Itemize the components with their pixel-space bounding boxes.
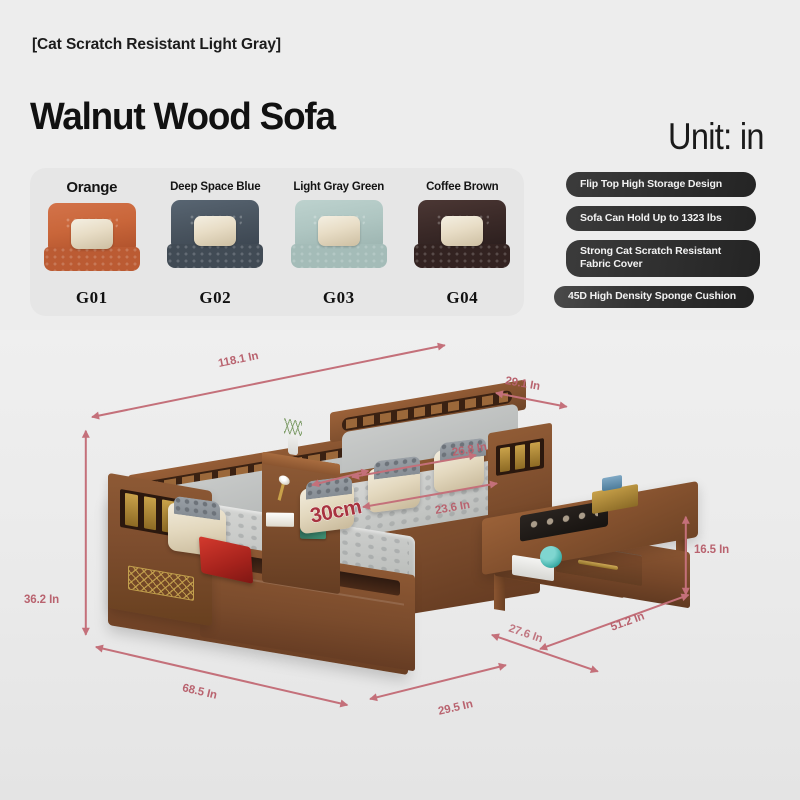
page-title: Walnut Wood Sofa [30,98,335,136]
dim-line-table-height [685,517,687,595]
feature-badge: Sofa Can Hold Up to 1323 lbs [566,206,756,231]
sofa-swatch-icon [291,200,387,272]
product-diagram: 118.1 In 29.1 In 26.8 In 23.6 In 30cm 36… [0,330,800,800]
vase-icon [288,432,298,456]
dim-label-overall-height: 36.2 In [24,594,59,606]
feature-badge: Flip Top High Storage Design [566,172,756,197]
feature-badge-list: Flip Top High Storage Design Sofa Can Ho… [566,172,796,317]
product-infographic: [Cat Scratch Resistant Light Gray] Walnu… [0,0,800,800]
lattice-ornament-icon [128,565,194,601]
color-option-g04[interactable]: Coffee Brown G04 [401,168,525,316]
throw-pillow [368,463,420,513]
color-option-code: G02 [154,288,278,308]
shelf-ball-decor [540,546,562,568]
lamp-icon [278,481,286,501]
sofa-swatch-icon [44,203,140,275]
unit-label: Unit: in [668,118,764,155]
color-option-label: Orange [66,179,117,196]
color-option-g02[interactable]: Deep Space Blue G02 [154,168,278,316]
product-subtitle: [Cat Scratch Resistant Light Gray] [32,36,281,54]
color-option-code: G03 [277,288,401,308]
color-option-panel: Orange G01 Deep Space Blue G02 Light [30,168,524,316]
feature-badge: Strong Cat Scratch Resistant Fabric Cove… [566,240,760,276]
color-option-g03[interactable]: Light Gray Green G03 [277,168,401,316]
dim-line-overall-height [85,431,87,635]
sofa-swatch-icon [167,200,263,272]
feature-badge: 45D High Density Sponge Cushion [554,286,754,308]
color-option-label: Coffee Brown [426,181,498,193]
color-option-g01[interactable]: Orange G01 [30,168,154,316]
book-icon [266,512,294,526]
color-option-code: G04 [401,288,525,308]
dim-label-table-height: 16.5 In [694,544,729,556]
sofa-swatch-icon [414,200,510,272]
color-option-code: G01 [30,288,154,308]
color-option-label: Deep Space Blue [170,181,260,193]
color-option-label: Light Gray Green [293,181,384,193]
